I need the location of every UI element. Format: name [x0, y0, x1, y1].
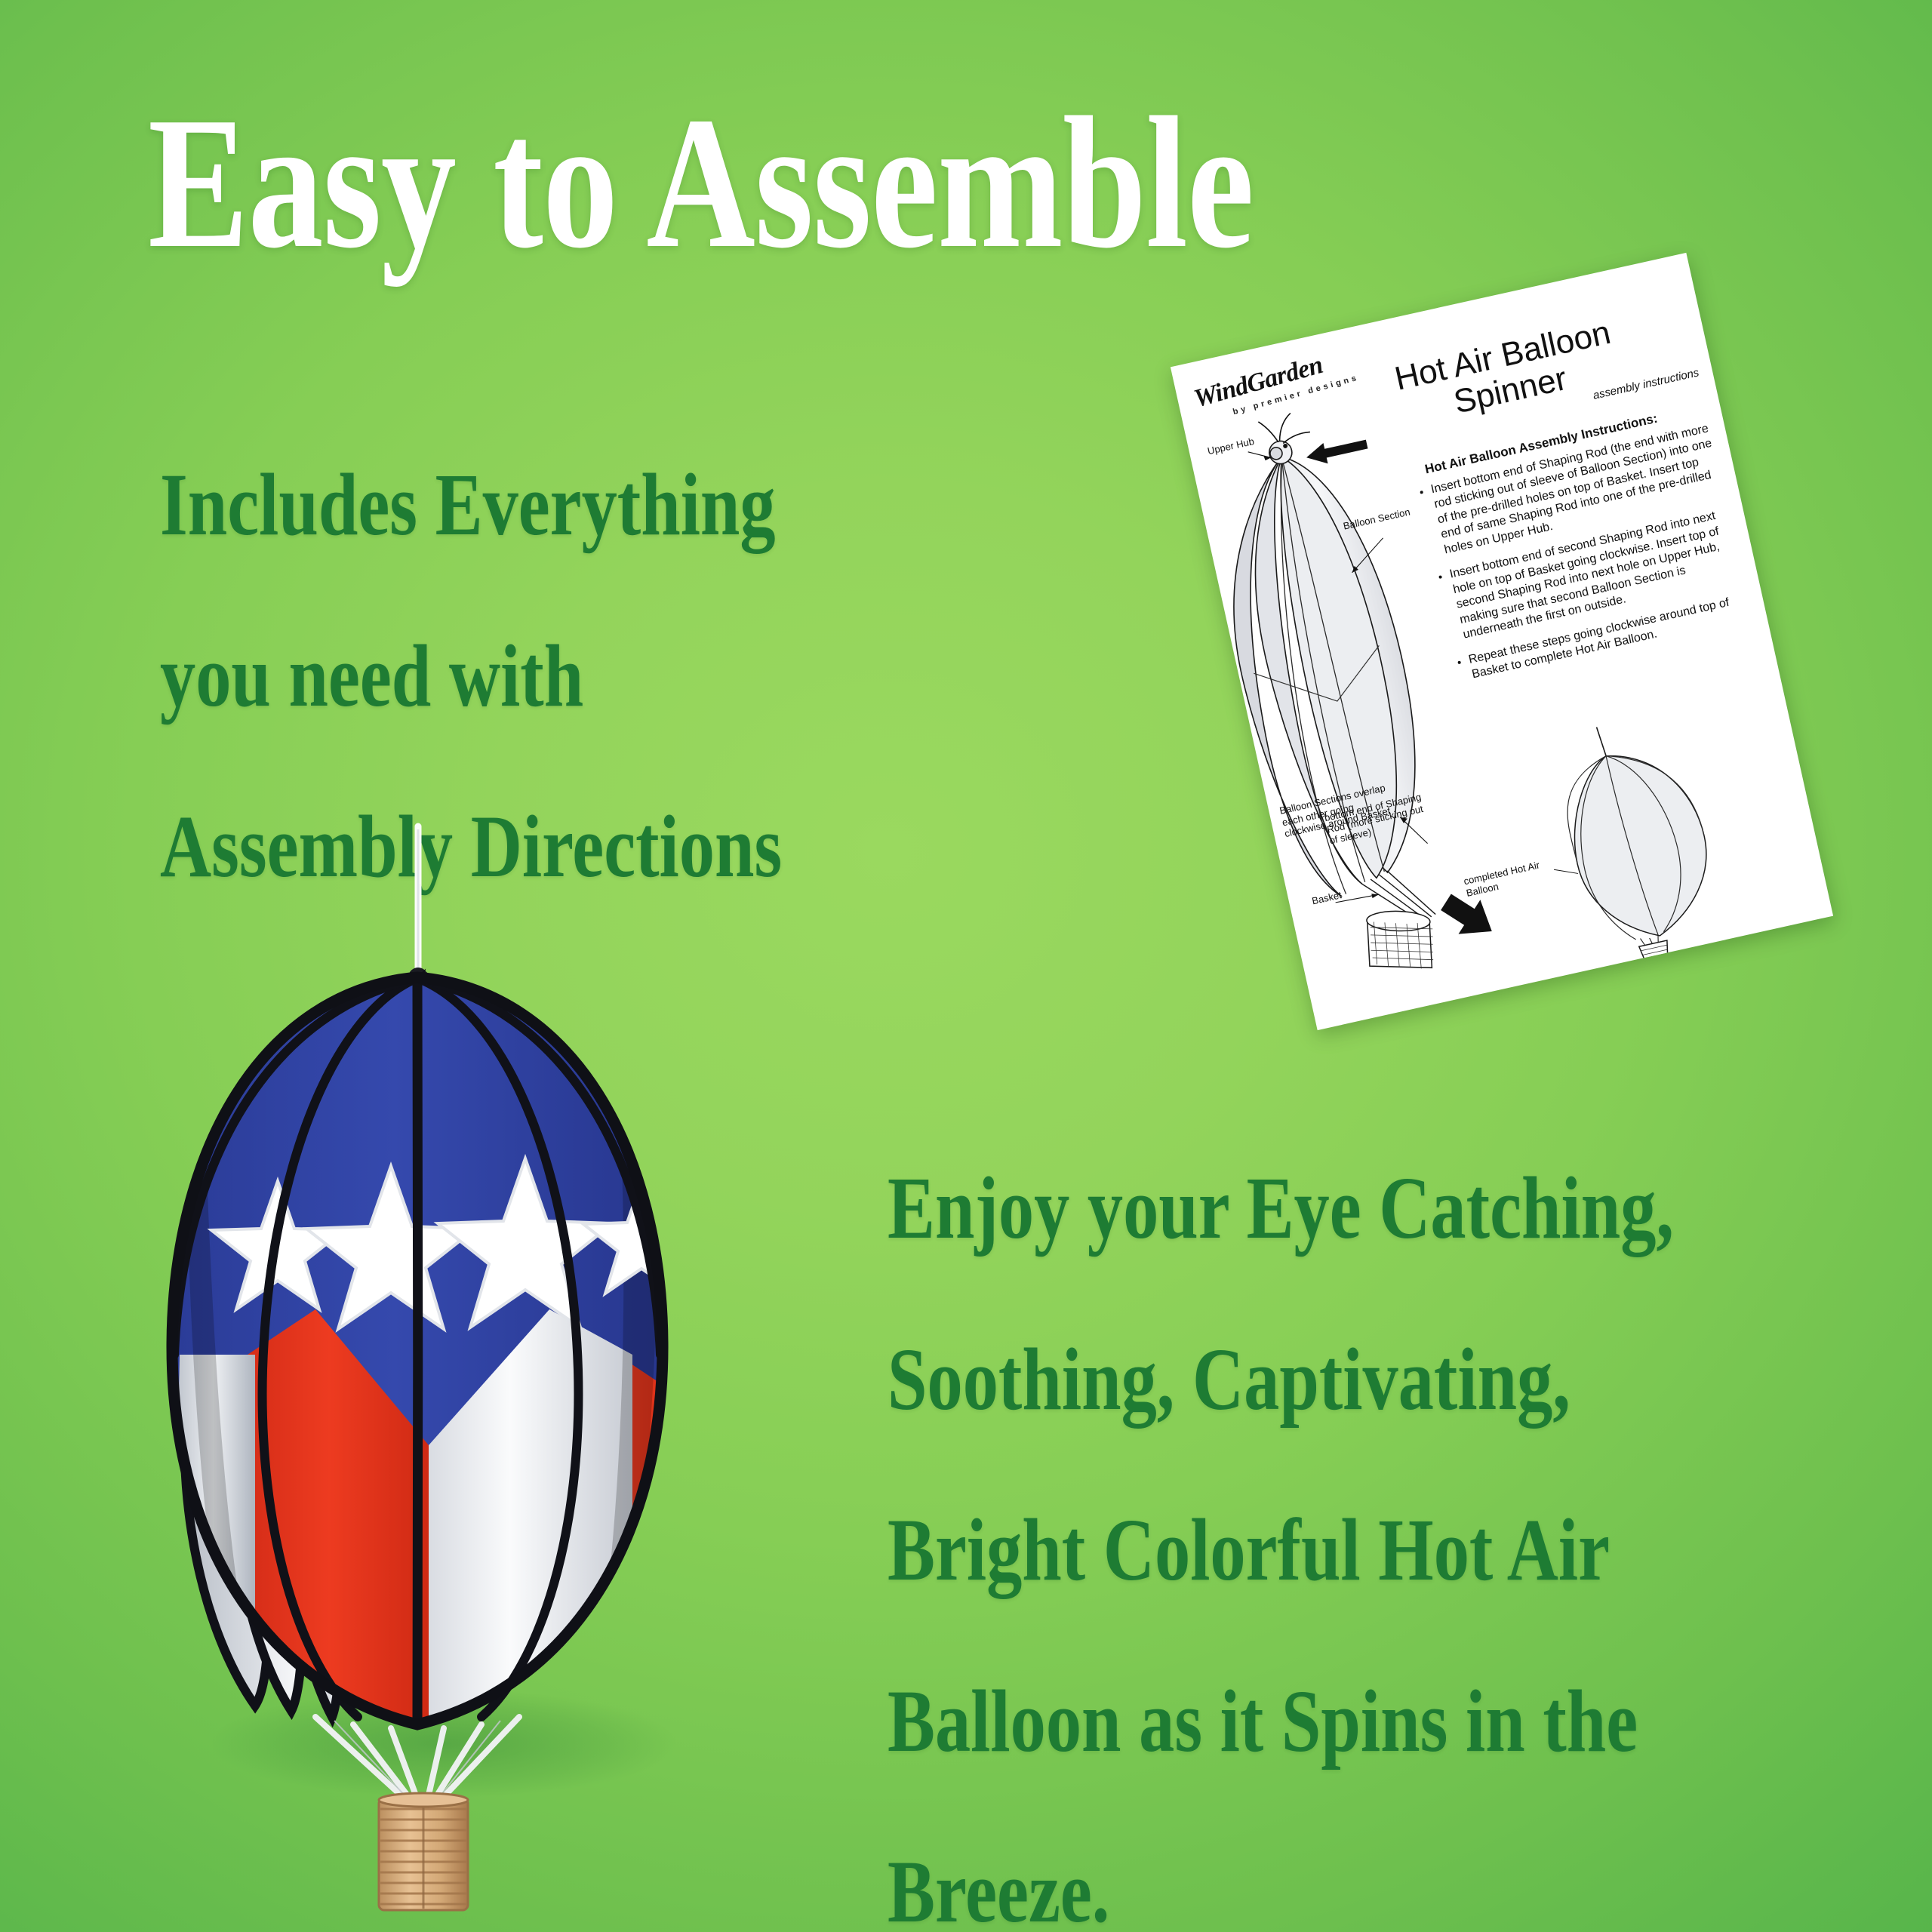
right-copy-line: Balloon as it Spins in the	[888, 1636, 1914, 1807]
exploded-balloon-diagram	[1198, 441, 1450, 907]
hanging-string	[408, 826, 428, 987]
left-copy-line: Includes Everything	[160, 420, 1066, 591]
arrow-to-hub	[1304, 434, 1369, 468]
basket-diagram	[1358, 897, 1442, 981]
product-marketing-image: Easy to Assemble Includes Everything you…	[0, 0, 1932, 1932]
instruction-sheet: WindGarden by premier designs Hot Air Ba…	[1171, 253, 1833, 1030]
page-title: Easy to Assemble	[148, 89, 1512, 278]
right-copy-line: Enjoy your Eye Catching,	[888, 1123, 1914, 1294]
basket	[379, 1793, 468, 1910]
right-copy-line: Bright Colorful Hot Air	[888, 1465, 1914, 1636]
balloon-spinner-photo	[89, 826, 768, 1906]
completed-basket	[1638, 933, 1671, 962]
completed-balloon-diagram	[1549, 709, 1728, 972]
instruction-sheet-wrapper: WindGarden by premier designs Hot Air Ba…	[1238, 302, 1857, 1057]
right-copy-line: Breeze.	[888, 1807, 1914, 1932]
right-copy-line: Soothing, Captivating,	[888, 1294, 1914, 1466]
left-copy-line: you need with	[160, 591, 1066, 762]
enjoy-your-copy: Enjoy your Eye Catching, Soothing, Capti…	[888, 1123, 1914, 1932]
